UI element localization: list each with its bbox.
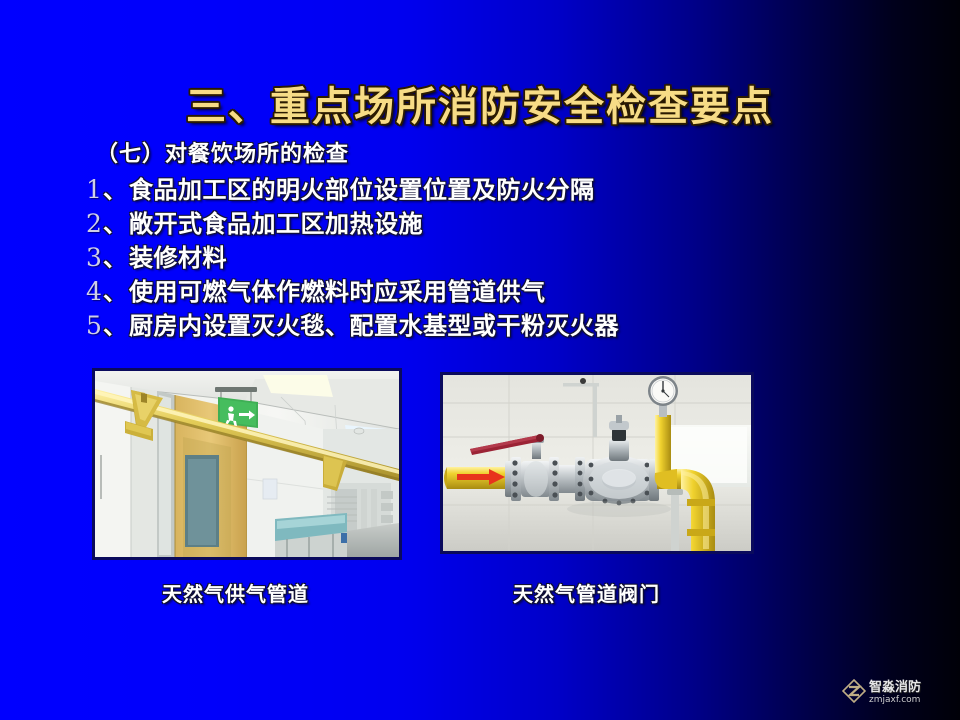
list-item-separator: 、 [103, 170, 129, 205]
list-item-number: 2 [86, 209, 103, 238]
list-item-label: 使用可燃气体作燃料时应采用管道供气 [129, 272, 546, 307]
list-item-separator: 、 [103, 306, 129, 341]
watermark: 智淼消防 zmjaxf.com [842, 679, 921, 707]
list-item: 2 、 敞开式食品加工区加热设施 [86, 204, 906, 238]
list-item-label: 厨房内设置灭火毯、配置水基型或干粉灭火器 [129, 306, 619, 341]
list-item-separator: 、 [103, 272, 129, 307]
list-item: 5 、 厨房内设置灭火毯、配置水基型或干粉灭火器 [86, 306, 906, 340]
photo-right-illustration [443, 375, 751, 551]
list-item-label: 食品加工区的明火部位设置位置及防火分隔 [129, 170, 595, 205]
list-item-label: 装修材料 [129, 238, 227, 273]
list-item-number: 3 [86, 243, 103, 272]
watermark-brand: 智淼消防 [869, 681, 921, 694]
photo-left-illustration [95, 371, 399, 557]
photo-natural-gas-supply-pipe [92, 368, 402, 560]
watermark-text: 智淼消防 zmjaxf.com [869, 681, 921, 705]
list-item-label: 敞开式食品加工区加热设施 [129, 204, 423, 239]
photo-right-caption: 天然气管道阀门 [513, 578, 660, 607]
list-item: 4 、 使用可燃气体作燃料时应采用管道供气 [86, 272, 906, 306]
photo-natural-gas-pipe-valve [440, 372, 754, 554]
list-item-separator: 、 [103, 238, 129, 273]
photo-left-caption: 天然气供气管道 [162, 578, 309, 607]
list-item-number: 1 [86, 175, 103, 204]
checkpoint-list: 1 、 食品加工区的明火部位设置位置及防火分隔 2 、 敞开式食品加工区加热设施… [86, 170, 906, 340]
list-item: 3 、 装修材料 [86, 238, 906, 272]
section-subtitle: （七）对餐饮场所的检查 [96, 136, 349, 168]
slide-canvas: 三、重点场所消防安全检查要点 （七）对餐饮场所的检查 1 、 食品加工区的明火部… [0, 0, 960, 720]
list-item: 1 、 食品加工区的明火部位设置位置及防火分隔 [86, 170, 906, 204]
watermark-url: zmjaxf.com [869, 696, 921, 705]
list-item-separator: 、 [103, 204, 129, 239]
watermark-logo-icon [842, 679, 866, 707]
list-item-number: 5 [86, 311, 103, 340]
page-title: 三、重点场所消防安全检查要点 [0, 74, 960, 132]
list-item-number: 4 [86, 277, 103, 306]
